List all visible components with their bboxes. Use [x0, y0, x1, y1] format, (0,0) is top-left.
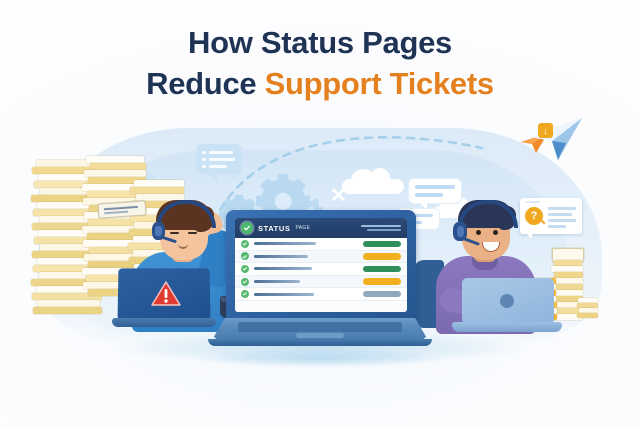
status-row-badge — [363, 241, 401, 248]
agent-right-laptop — [452, 278, 562, 336]
status-row-label — [254, 242, 316, 245]
status-row-label — [254, 267, 312, 270]
floor-shadow-inner — [150, 348, 490, 374]
status-page-brand: STATUS — [258, 224, 291, 233]
status-row[interactable] — [235, 263, 407, 276]
status-row[interactable] — [235, 238, 407, 251]
agent-right-laptop-lid — [462, 278, 554, 324]
check-circle-icon — [241, 265, 249, 273]
title-line-2: Reduce Support Tickets — [0, 63, 640, 104]
status-row-badge — [363, 278, 401, 285]
status-page-header-meta — [361, 225, 401, 231]
status-row[interactable] — [235, 288, 407, 301]
title-line-1: How Status Pages — [0, 22, 640, 63]
agent-right-laptop-logo — [500, 294, 514, 308]
page-title: How Status Pages Reduce Support Tickets — [0, 22, 640, 104]
check-circle-icon — [241, 278, 249, 286]
status-row[interactable] — [235, 251, 407, 264]
status-page-brand-suffix: PAGE — [296, 225, 311, 231]
check-circle-icon — [241, 222, 253, 234]
plane-badge-icon: ↓ — [538, 123, 553, 138]
laptop-trackpad[interactable] — [296, 333, 344, 338]
title-line-1-text: How Status Pages — [188, 25, 452, 60]
agent-right-laptop-base — [452, 322, 562, 332]
status-row-label — [254, 293, 314, 296]
check-circle-icon — [241, 290, 249, 298]
agent-left-laptop — [112, 268, 216, 330]
agent-right-eye-left — [476, 230, 481, 235]
laptop-keyboard[interactable] — [238, 322, 402, 332]
agent-left-eye-right — [188, 232, 197, 234]
status-row-badge — [363, 291, 401, 298]
warning-triangle-icon — [150, 280, 182, 308]
status-page-laptop: STATUS PAGE — [212, 210, 428, 350]
status-page-header: STATUS PAGE — [235, 218, 407, 238]
illustration-canvas: How Status Pages Reduce Support Tickets — [0, 0, 640, 427]
laptop-lid: STATUS PAGE — [226, 210, 416, 320]
status-page-rows — [235, 238, 407, 312]
status-row[interactable] — [235, 276, 407, 289]
title-line-2-text: Reduce — [146, 66, 265, 101]
agent-left-laptop-base — [112, 318, 216, 327]
agent-right-eye-right — [493, 230, 498, 235]
laptop-front-edge — [208, 339, 432, 346]
status-row-badge — [363, 266, 401, 273]
check-circle-icon — [241, 252, 249, 260]
check-circle-icon — [241, 240, 249, 248]
status-row-label — [254, 280, 300, 283]
status-row-badge — [363, 253, 401, 260]
agent-left-eye-left — [170, 232, 179, 234]
paper-plane-blue-icon — [528, 116, 584, 162]
laptop-keyboard-base — [212, 318, 428, 340]
laptop-screen[interactable]: STATUS PAGE — [235, 218, 407, 312]
title-accent-text: Support Tickets — [265, 66, 494, 101]
status-row-label — [254, 255, 308, 258]
